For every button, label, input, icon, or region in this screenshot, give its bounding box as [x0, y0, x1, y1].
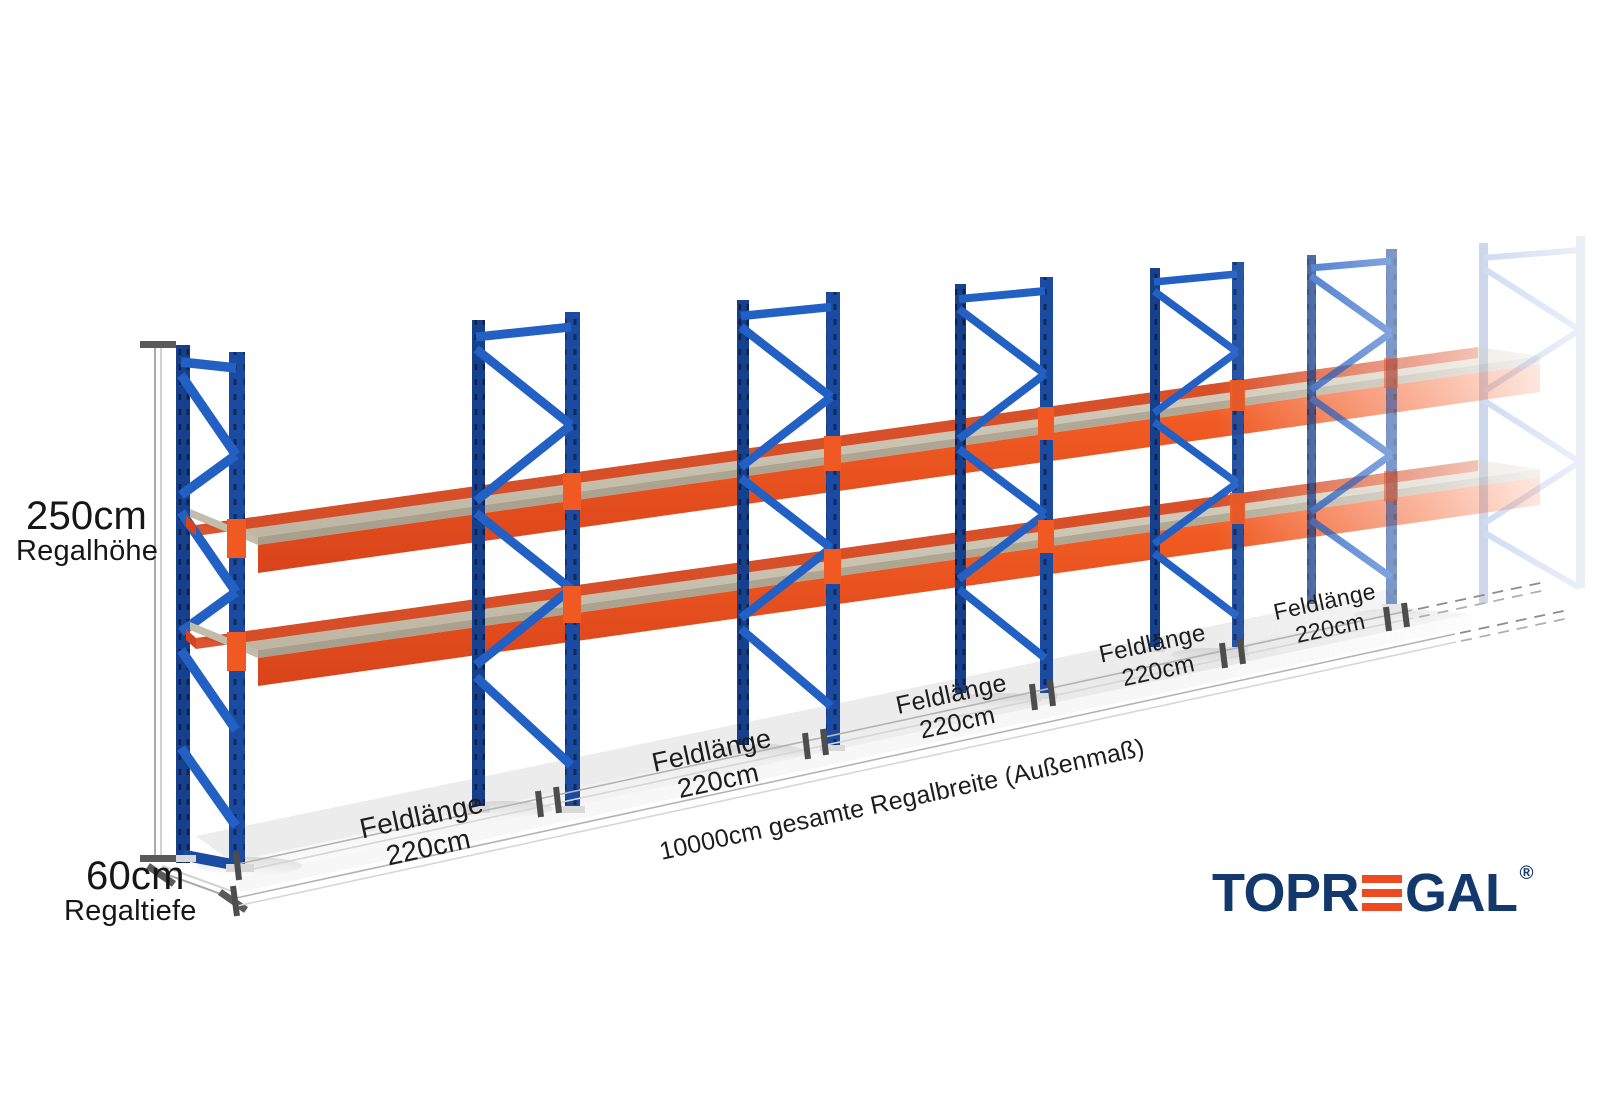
bay-tick-0 [236, 852, 239, 880]
logo-text-part-2: GAL [1405, 866, 1518, 920]
depth-label: Regaltiefe [64, 896, 197, 927]
dim-cap-top [140, 341, 176, 348]
topregal-logo: TOPR GAL ® [1212, 866, 1534, 920]
rack-frame-1 [170, 345, 254, 872]
rack-scene [0, 0, 1600, 1100]
height-value: 250cm [26, 495, 147, 537]
total-tick-start [233, 886, 237, 916]
depth-value: 60cm [86, 855, 185, 897]
height-label: Regalhöhe [16, 536, 158, 567]
registered-trademark-icon: ® [1520, 864, 1534, 883]
product-illustration: 250cm Regalhöhe 60cm Regaltiefe Feldläng… [0, 0, 1600, 1100]
logo-text-part-1: TOPR [1212, 866, 1359, 920]
logo-e-bars-icon [1362, 866, 1402, 911]
